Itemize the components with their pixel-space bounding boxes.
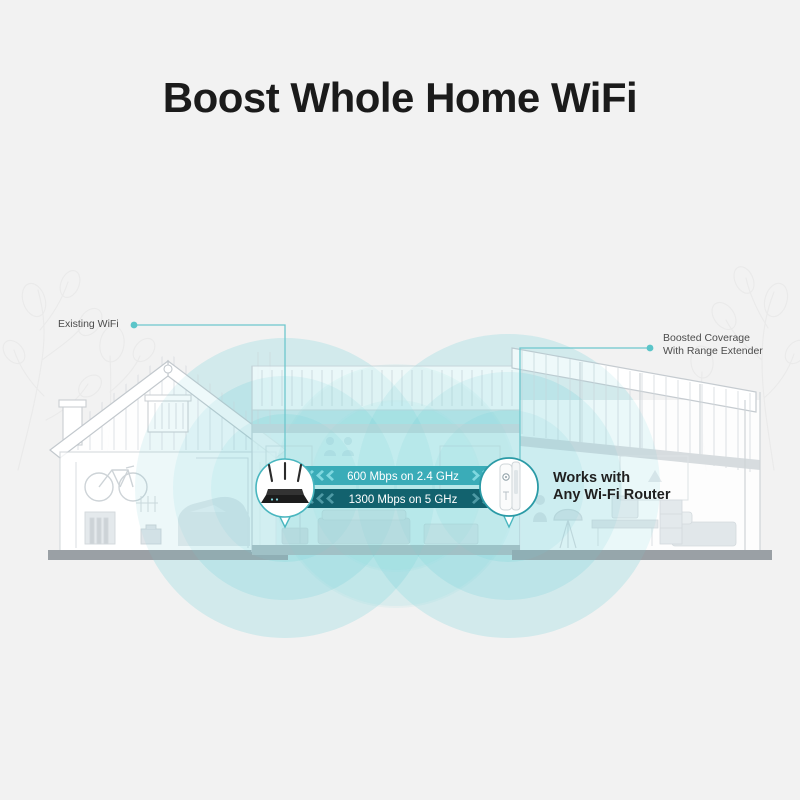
diagram-stage: Boost Whole Home WiFi: [0, 0, 800, 800]
cabinet-icon: [660, 500, 682, 544]
scene-illustration: 600 Mbps on 2.4 GHz 1300 Mbps on 5 GHz: [0, 0, 800, 800]
annotation-boosted-coverage: Boosted Coverage With Range Extender: [663, 332, 763, 357]
annotation-existing-wifi: Existing WiFi: [58, 318, 119, 331]
garage-storage: [85, 512, 115, 544]
speed-bar-5g-label: 1300 Mbps on 5 GHz: [349, 494, 458, 506]
annotation-boosted-line1: Boosted Coverage: [663, 332, 763, 345]
works-with-callout: Works with Any Wi-Fi Router: [553, 470, 670, 504]
range-extender-icon: [500, 462, 520, 510]
works-with-line1: Works with: [553, 470, 670, 487]
works-with-line2: Any Wi-Fi Router: [553, 487, 670, 504]
speed-bar-2g-label: 600 Mbps on 2.4 GHz: [347, 471, 459, 483]
annotation-boosted-line2: With Range Extender: [663, 345, 763, 358]
annotation-existing-wifi-label: Existing WiFi: [58, 318, 119, 330]
leader-dot-right: [647, 345, 654, 352]
leader-dot-left: [131, 322, 138, 329]
